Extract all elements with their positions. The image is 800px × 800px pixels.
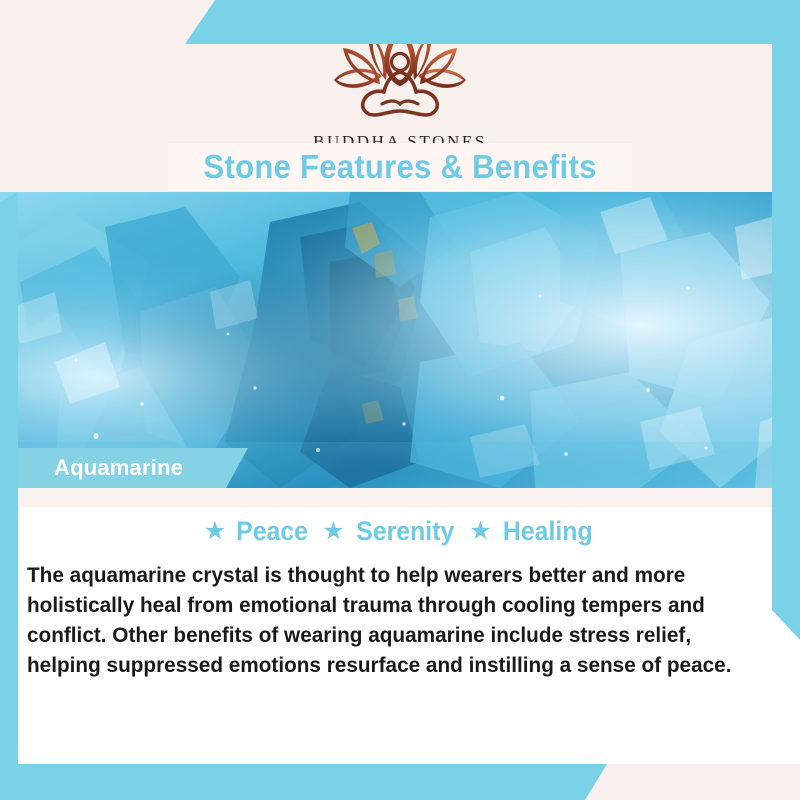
star-icon: ★ <box>322 519 344 544</box>
stone-name: Aquamarine <box>54 455 183 481</box>
benefit-label: Serenity <box>356 516 454 547</box>
aquamarine-crystal-photo <box>0 192 800 488</box>
title-banner: Stone Features & Benefits <box>168 143 632 191</box>
benefit-label: Healing <box>503 516 593 547</box>
infographic-poster: BUDDHA STONES Stone Features & Benefits <box>0 0 800 800</box>
cream-divider-strip <box>0 488 800 507</box>
star-icon: ★ <box>469 519 491 544</box>
stone-description: The aquamarine crystal is thought to hel… <box>27 560 746 680</box>
benefit-item-serenity: ★ Serenity <box>322 516 458 547</box>
star-icon: ★ <box>204 519 226 544</box>
benefit-item-healing: ★ Healing <box>469 516 596 547</box>
benefits-row: ★ Peace ★ Serenity ★ Healing <box>0 516 800 547</box>
stone-name-banner: Aquamarine <box>0 448 248 488</box>
content-section: ★ Peace ★ Serenity ★ Healing The aquamar… <box>0 507 800 764</box>
benefit-label: Peace <box>236 516 308 547</box>
frame-right-bar <box>772 0 800 640</box>
page-title: Stone Features & Benefits <box>203 148 596 186</box>
frame-bottom-bar <box>0 764 800 800</box>
frame-left-bar <box>0 192 18 800</box>
benefit-item-peace: ★ Peace <box>204 516 312 547</box>
